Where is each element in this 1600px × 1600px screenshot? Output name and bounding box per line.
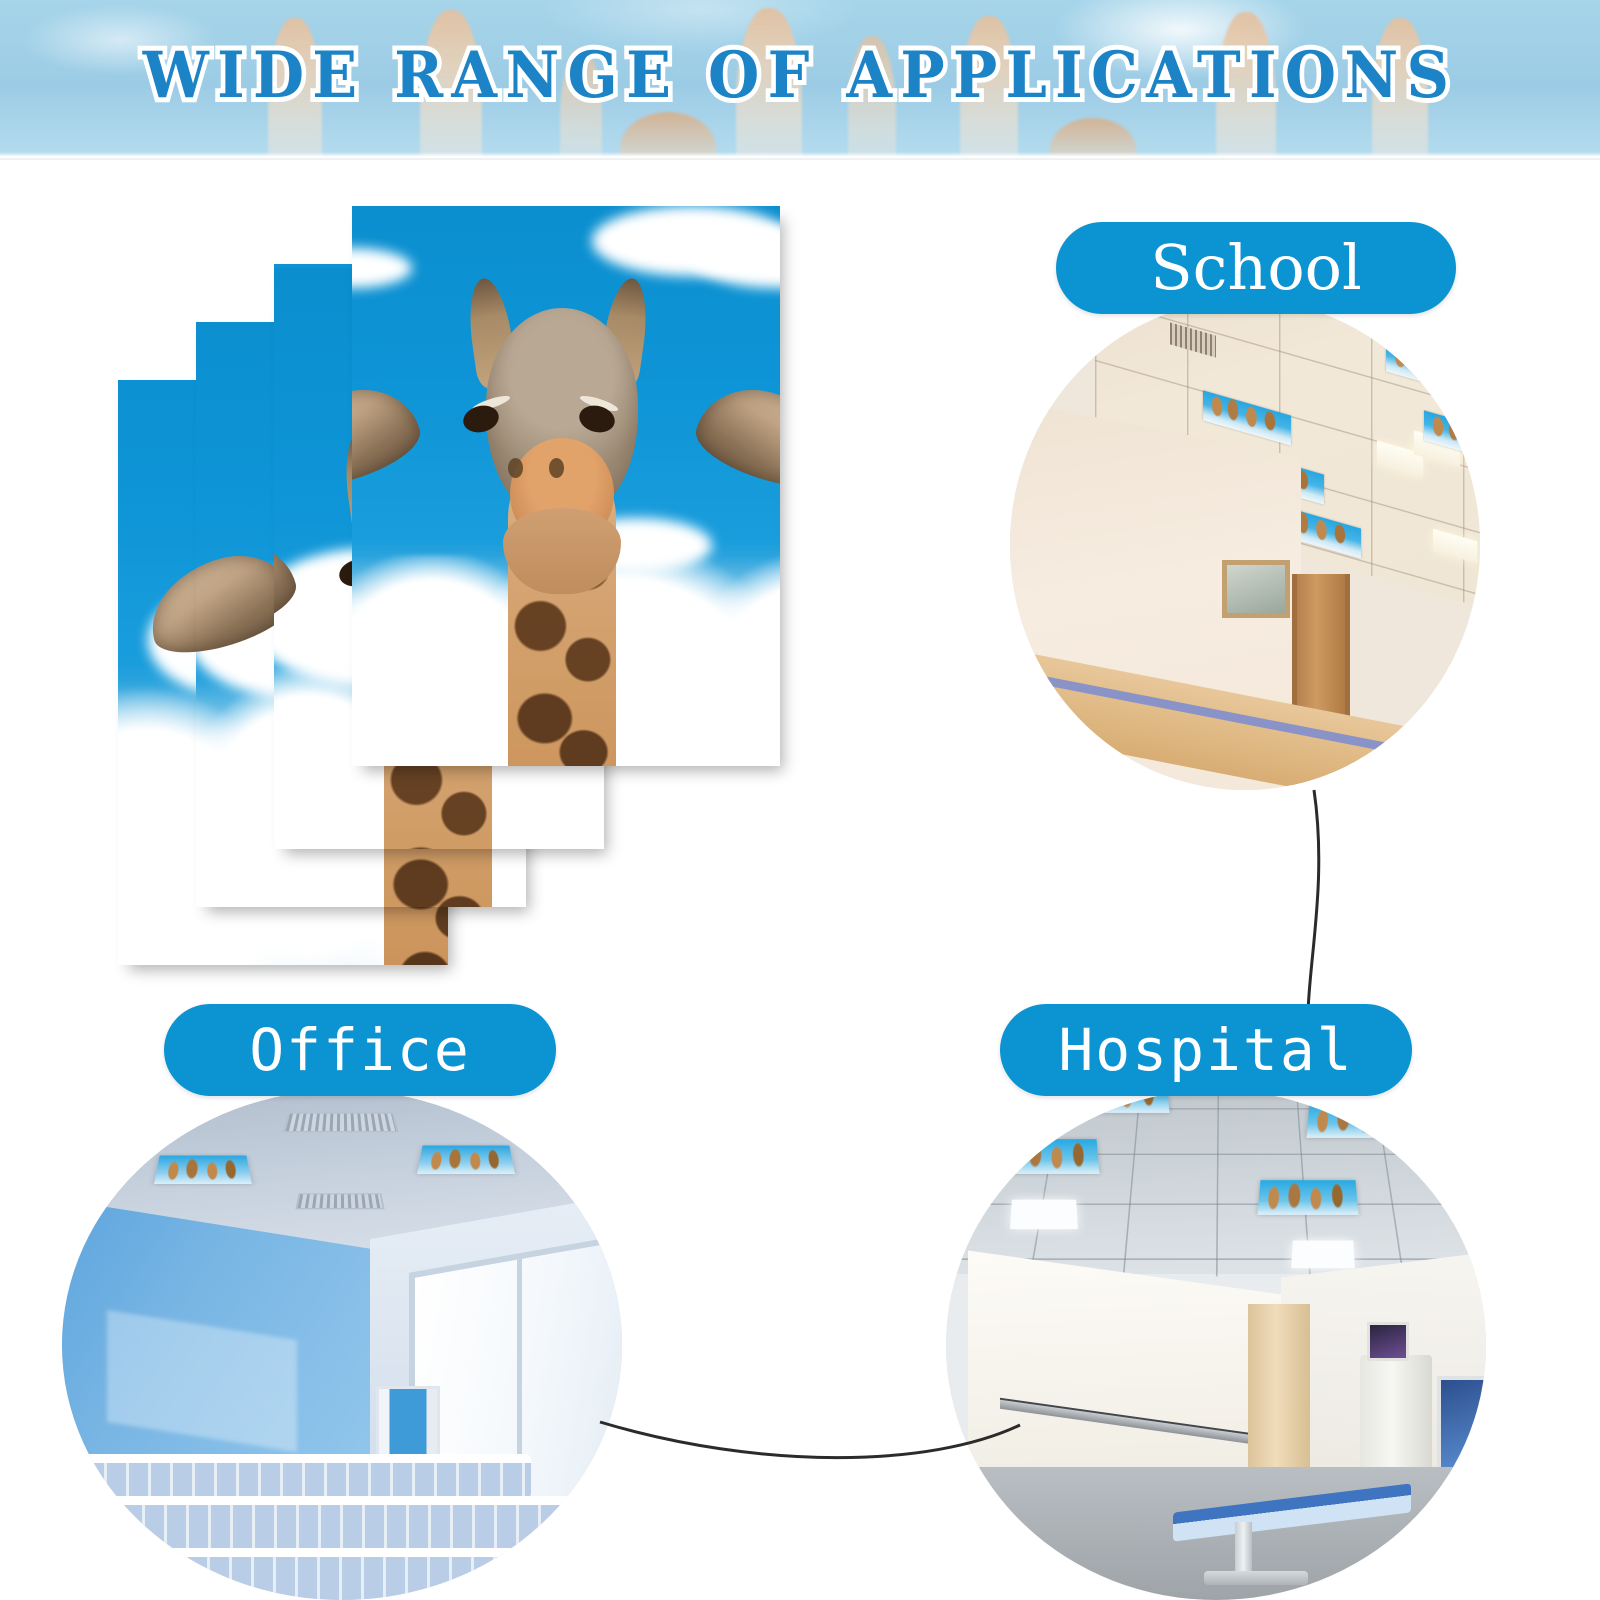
page-title: WIDE RANGE OF APPLICATIONS bbox=[64, 44, 1536, 108]
ceiling-light bbox=[1010, 1200, 1078, 1229]
giraffe-ceiling-panel bbox=[998, 1139, 1099, 1174]
header-banner: WIDE RANGE OF APPLICATIONS bbox=[0, 0, 1600, 158]
callout-label-school[interactable]: School bbox=[1056, 222, 1456, 314]
ceiling-light bbox=[1291, 1240, 1355, 1268]
giraffe-ceiling-panel bbox=[417, 1146, 515, 1174]
giraffe-ceiling-panel bbox=[1306, 1103, 1407, 1138]
patient-monitor bbox=[1437, 1376, 1486, 1478]
product-panel-stack bbox=[0, 150, 840, 980]
callout-label-office[interactable]: Office bbox=[164, 1004, 556, 1096]
callout-circle-office bbox=[62, 1090, 622, 1600]
callout-label-hospital[interactable]: Hospital bbox=[1000, 1004, 1412, 1096]
giraffe-ceiling-panel bbox=[154, 1156, 252, 1184]
ceiling-vent bbox=[283, 1113, 398, 1133]
ceiling-vent bbox=[295, 1193, 384, 1209]
product-panel-front bbox=[352, 206, 780, 766]
waiting-chairs bbox=[62, 1447, 622, 1600]
corridor-window bbox=[1222, 560, 1290, 618]
callout-circle-school bbox=[1010, 300, 1480, 790]
giraffe-ceiling-panel bbox=[1258, 1180, 1359, 1215]
exam-table bbox=[1173, 1498, 1411, 1585]
callout-circle-hospital bbox=[946, 1090, 1486, 1600]
